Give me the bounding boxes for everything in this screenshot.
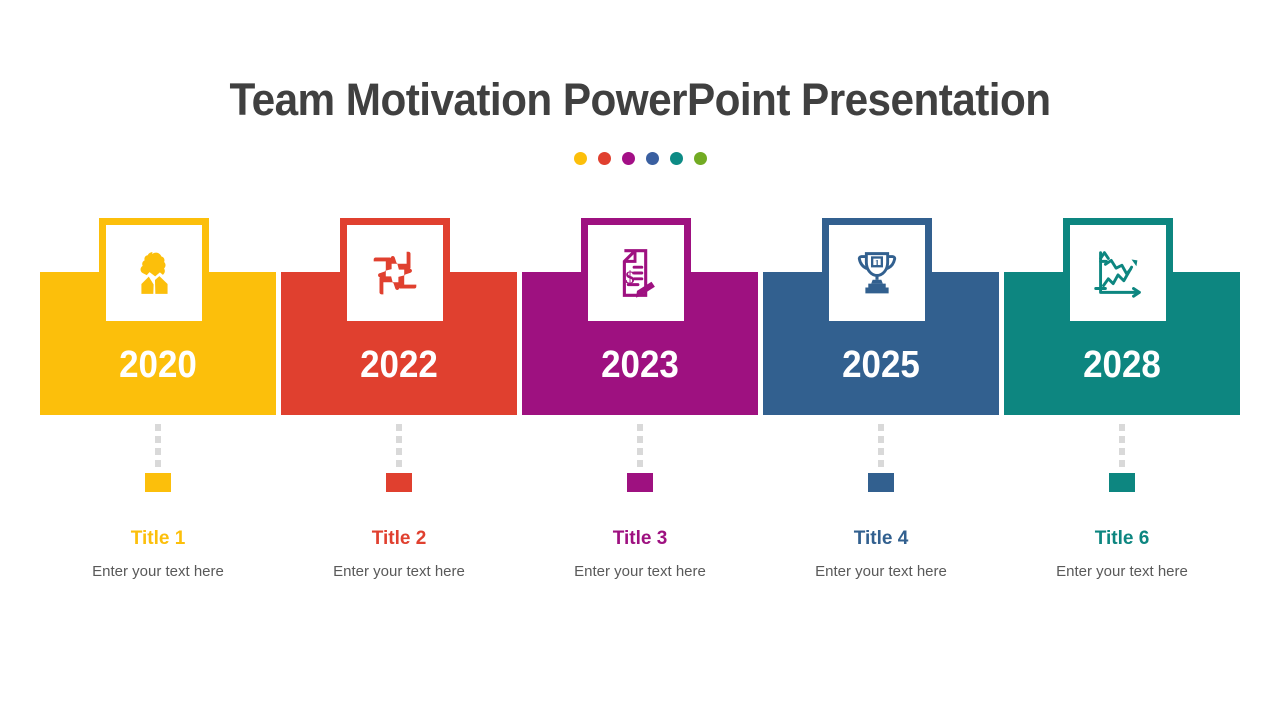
- tick: [1119, 460, 1125, 467]
- tick: [637, 424, 643, 431]
- tick: [878, 460, 884, 467]
- connector: [522, 416, 758, 492]
- icon-frame[interactable]: [340, 218, 450, 328]
- tick: [155, 448, 161, 455]
- dotted-line: [1119, 424, 1125, 467]
- year-label: 2022: [290, 344, 507, 387]
- icon-frame[interactable]: $: [581, 218, 691, 328]
- dot-yellow: [574, 152, 587, 165]
- timeline-column[interactable]: $ 2023 Title 3 Enter your text here: [522, 218, 758, 580]
- caption-block: Title 2 Enter your text here: [281, 492, 517, 580]
- line-chart-icon: [1087, 242, 1149, 304]
- svg-text:1: 1: [875, 257, 879, 267]
- caption-text: Enter your text here: [40, 563, 276, 580]
- icon-frame[interactable]: [99, 218, 209, 328]
- year-card[interactable]: 2020: [40, 218, 276, 416]
- caption-text: Enter your text here: [522, 563, 758, 580]
- tick: [878, 436, 884, 443]
- decorative-dot-row: [0, 152, 1280, 165]
- caption-text: Enter your text here: [1004, 563, 1240, 580]
- tick: [1119, 448, 1125, 455]
- tick: [396, 448, 402, 455]
- connector: [281, 416, 517, 492]
- caption-block: Title 1 Enter your text here: [40, 492, 276, 580]
- connector: [1004, 416, 1240, 492]
- year-label: 2020: [49, 344, 266, 387]
- caption-block: Title 3 Enter your text here: [522, 492, 758, 580]
- connector-node: [386, 473, 412, 492]
- icon-frame[interactable]: 1: [822, 218, 932, 328]
- dot-red: [598, 152, 611, 165]
- tick: [1119, 424, 1125, 431]
- tick: [155, 460, 161, 467]
- dotted-line: [878, 424, 884, 467]
- tick: [155, 436, 161, 443]
- clasped-hands-icon: [123, 242, 185, 304]
- slide-canvas: Team Motivation PowerPoint Presentation …: [0, 0, 1280, 720]
- year-card[interactable]: $ 2023: [522, 218, 758, 416]
- tick: [878, 448, 884, 455]
- tick: [637, 436, 643, 443]
- tick: [637, 448, 643, 455]
- caption-text: Enter your text here: [281, 563, 517, 580]
- svg-text:$: $: [625, 268, 634, 288]
- page-title: Team Motivation PowerPoint Presentation: [38, 74, 1241, 126]
- connector: [40, 416, 276, 492]
- caption-block: Title 4 Enter your text here: [763, 492, 999, 580]
- four-hands-teamwork-icon: [364, 242, 426, 304]
- dot-magenta: [622, 152, 635, 165]
- connector-node: [627, 473, 653, 492]
- tick: [396, 460, 402, 467]
- tick: [1119, 436, 1125, 443]
- year-card[interactable]: 1 2025: [763, 218, 999, 416]
- tick: [878, 424, 884, 431]
- timeline-column[interactable]: 2028 Title 6 Enter your text here: [1004, 218, 1240, 580]
- dotted-line: [155, 424, 161, 467]
- tick: [637, 460, 643, 467]
- year-label: 2025: [772, 344, 989, 387]
- connector-node: [1109, 473, 1135, 492]
- timeline-column[interactable]: 1 2025 Title: [763, 218, 999, 580]
- dot-blue: [646, 152, 659, 165]
- caption-title: Title 2: [281, 528, 517, 550]
- dot-green: [694, 152, 707, 165]
- icon-frame[interactable]: [1063, 218, 1173, 328]
- tick: [396, 424, 402, 431]
- connector: [763, 416, 999, 492]
- timeline-column[interactable]: 2022 Title 2 Enter your text here: [281, 218, 517, 580]
- invoice-pen-icon: $: [605, 242, 667, 304]
- dot-teal: [670, 152, 683, 165]
- caption-text: Enter your text here: [763, 563, 999, 580]
- trophy-icon: 1: [846, 242, 908, 304]
- dotted-line: [396, 424, 402, 467]
- tick: [396, 436, 402, 443]
- dotted-line: [637, 424, 643, 467]
- caption-block: Title 6 Enter your text here: [1004, 492, 1240, 580]
- timeline-column[interactable]: 2020 Title 1 Enter your text here: [40, 218, 276, 580]
- connector-node: [868, 473, 894, 492]
- year-card[interactable]: 2022: [281, 218, 517, 416]
- tick: [155, 424, 161, 431]
- year-label: 2023: [531, 344, 748, 387]
- caption-title: Title 3: [522, 528, 758, 550]
- timeline-columns: 2020 Title 1 Enter your text here: [40, 218, 1240, 580]
- year-label: 2028: [1013, 344, 1230, 387]
- caption-title: Title 6: [1004, 528, 1240, 550]
- year-card[interactable]: 2028: [1004, 218, 1240, 416]
- caption-title: Title 4: [763, 528, 999, 550]
- caption-title: Title 1: [40, 528, 276, 550]
- connector-node: [145, 473, 171, 492]
